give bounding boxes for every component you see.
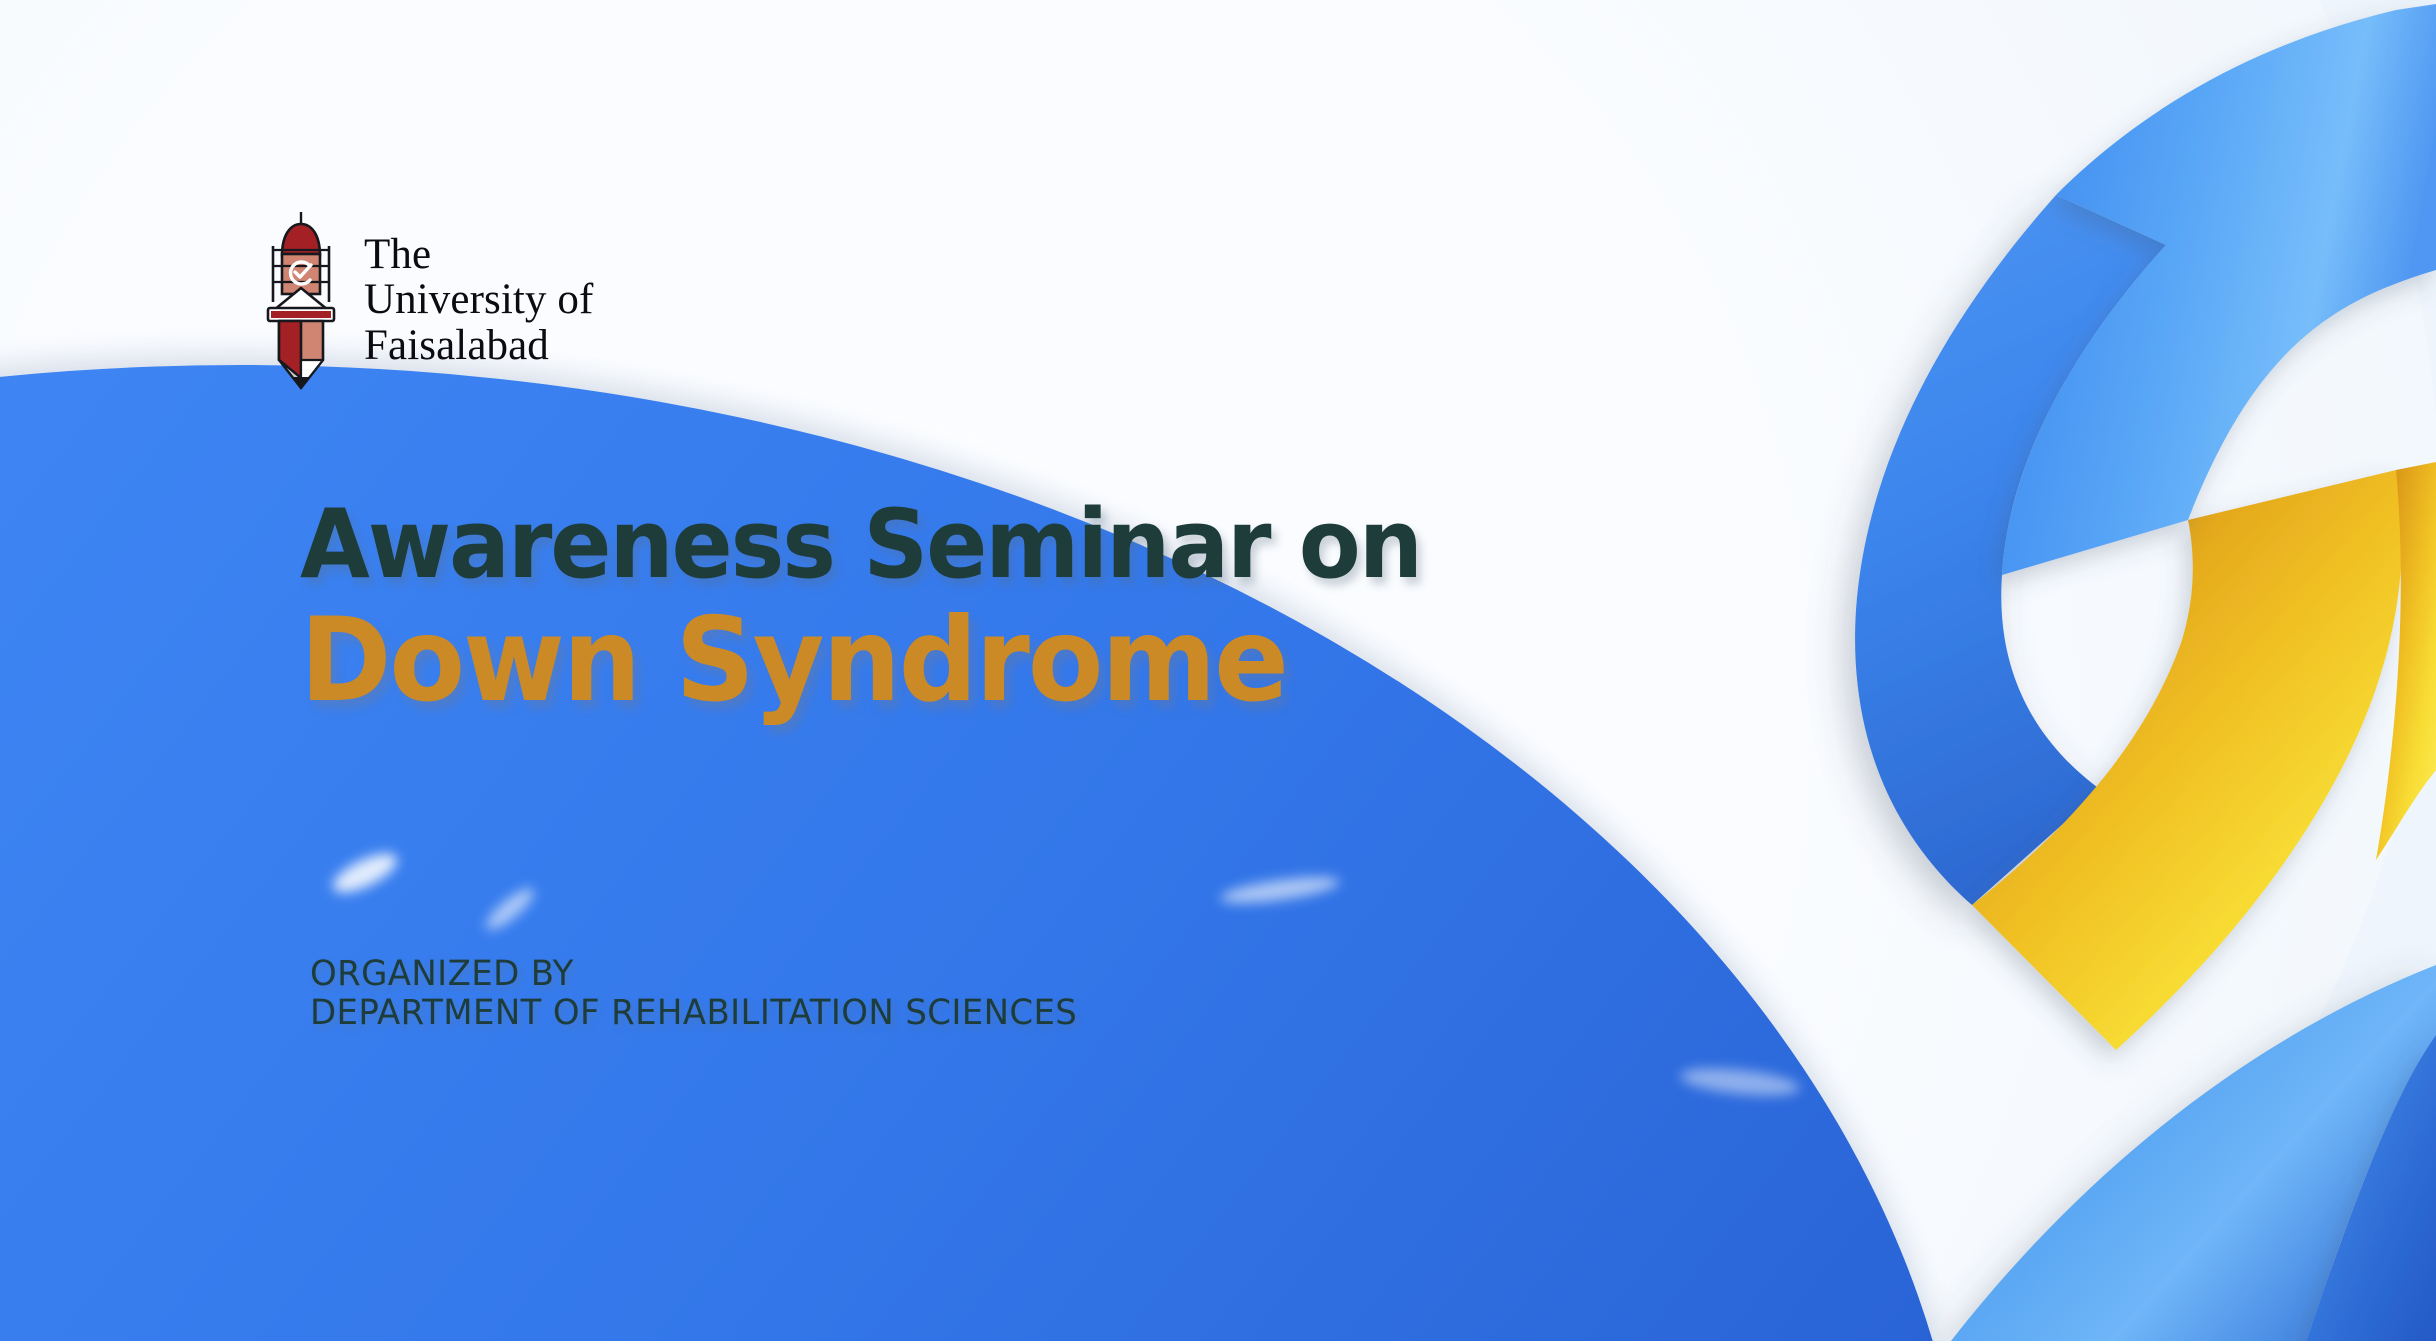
university-name: The University of Faisalabad	[364, 232, 593, 367]
poster-canvas: The University of Faisalabad Awareness S…	[0, 0, 2436, 1341]
organized-by-label: ORGANIZED BY	[310, 955, 1077, 994]
university-logo: The University of Faisalabad	[262, 210, 593, 390]
organizer-block: ORGANIZED BY DEPARTMENT OF REHABILITATIO…	[310, 955, 1101, 1033]
down-syndrome-awareness-ribbon	[1696, 0, 2436, 1341]
university-lighthouse-pencil-icon	[262, 210, 340, 390]
organizer-department: DEPARTMENT OF REHABILITATION SCIENCES	[310, 994, 1077, 1033]
headline-line-2: Down Syndrome	[300, 603, 1725, 719]
headline-line-1: Awareness Seminar on	[300, 498, 1725, 593]
headline-block: Awareness Seminar on Down Syndrome	[300, 498, 1800, 719]
